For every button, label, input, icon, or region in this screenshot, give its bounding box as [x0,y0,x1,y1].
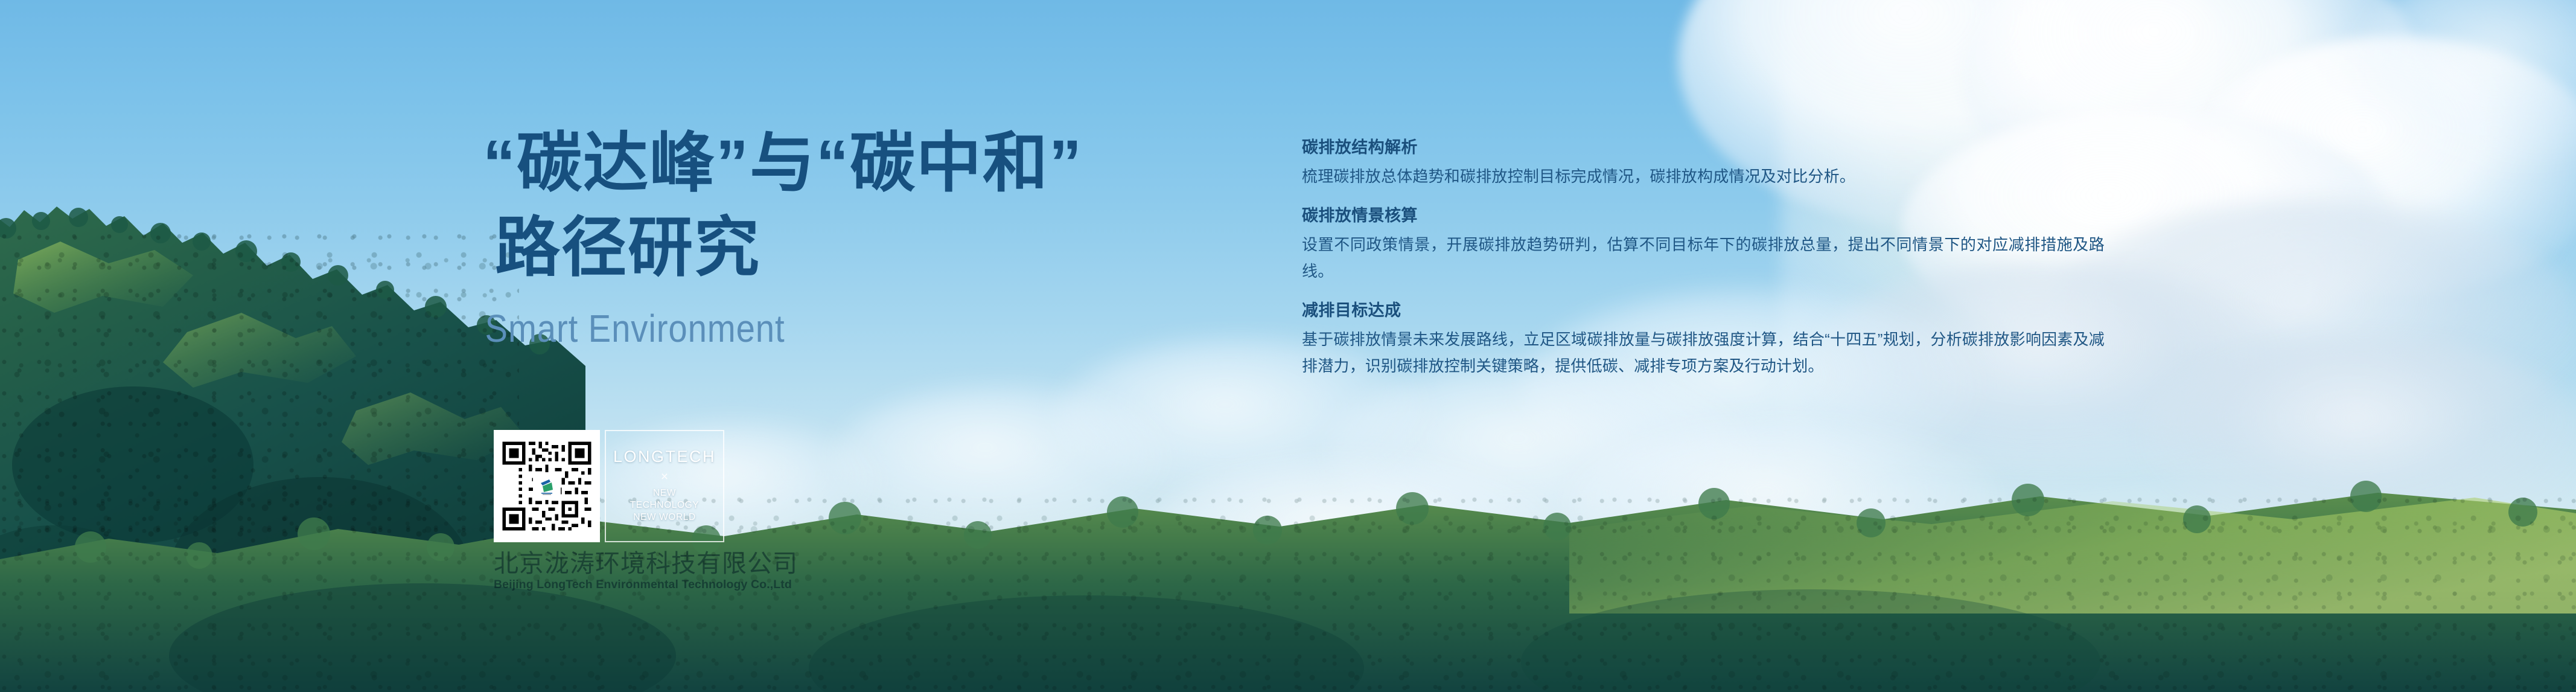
info-block: 碳排放结构解析 梳理碳排放总体趋势和碳排放控制目标完成情况，碳排放构成情况及对比… [1302,138,2105,190]
page-title-line-2: 路径研究 [483,205,1237,290]
slogan-subtext: NEW TECHNOLOGY NEW WORLD [630,487,700,524]
slogan-sub-line-2: TECHNOLOGY [630,499,700,511]
info-block-heading: 减排目标达成 [1302,301,2105,320]
brand-panel: LONGTECH × NEW TECHNOLOGY NEW WORLD [494,430,724,542]
qr-code[interactable] [499,435,595,537]
info-block: 碳排放情景核算 设置不同政策情景，开展碳排放趋势研判，估算不同目标年下的碳排放总… [1302,206,2105,285]
longtech-mark-icon [537,476,556,496]
slogan-sub-line-3: NEW WORLD [630,511,700,524]
slogan-sub-line-1: NEW [630,487,700,499]
qr-card[interactable] [494,430,600,542]
brand-name: LONGTECH [613,449,716,465]
hero-title-block: “碳达峰”与“碳中和” 路径研究 Smart Environment [483,121,1237,351]
info-block: 减排目标达成 基于碳排放情景未来发展路线，立足区域碳排放量与碳排放强度计算，结合… [1302,301,2105,380]
info-column: 碳排放结构解析 梳理碳排放总体趋势和碳排放控制目标完成情况，碳排放构成情况及对比… [1302,138,2105,380]
info-block-body: 基于碳排放情景未来发展路线，立足区域碳排放量与碳排放强度计算，结合“十四五”规划… [1302,327,2105,379]
info-block-heading: 碳排放情景核算 [1302,206,2105,225]
hero-banner: “碳达峰”与“碳中和” 路径研究 Smart Environment [0,0,2576,692]
page-title-line-1: “碳达峰”与“碳中和” [483,121,1237,205]
info-block-body: 梳理碳排放总体趋势和碳排放控制目标完成情况，碳排放构成情况及对比分析。 [1302,164,2105,190]
info-block-body: 设置不同政策情景，开展碳排放趋势研判，估算不同目标年下的碳排放总量，提出不同情景… [1302,232,2105,284]
info-block-heading: 碳排放结构解析 [1302,138,2105,157]
company-logo-icon [534,473,560,499]
page-subtitle: Smart Environment [483,306,1147,351]
slogan-box: LONGTECH × NEW TECHNOLOGY NEW WORLD [605,430,724,542]
multiply-icon: × [661,470,668,483]
